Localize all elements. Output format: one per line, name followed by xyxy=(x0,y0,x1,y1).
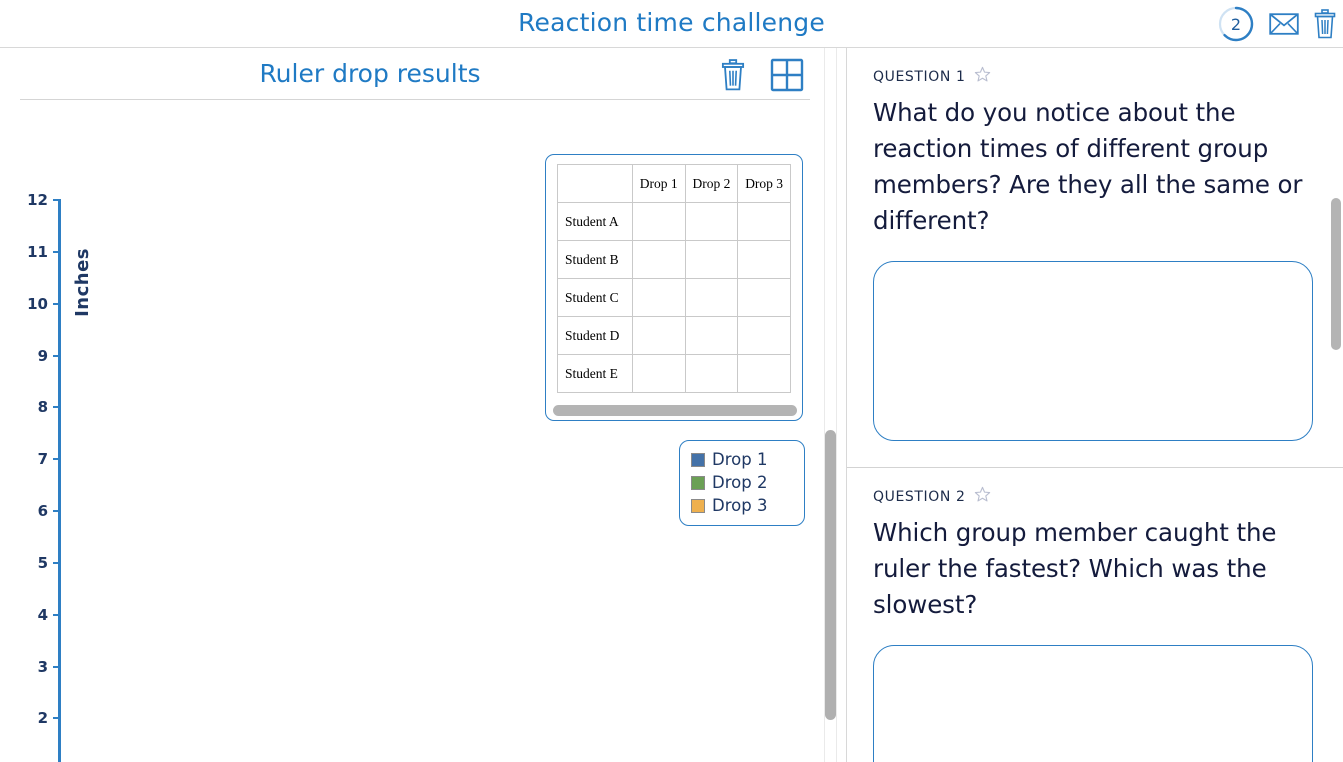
table-corner-cell xyxy=(558,165,633,203)
table-row-header: Student D xyxy=(558,317,633,355)
chart-header-actions xyxy=(720,58,804,92)
table-row: Student E xyxy=(558,355,791,393)
y-axis-tick xyxy=(53,666,61,668)
chart-panel: Ruler drop results Inches 12345678910111 xyxy=(0,48,821,762)
y-axis-tick xyxy=(53,717,61,719)
table-row-header: Student C xyxy=(558,279,633,317)
legend-label: Drop 1 xyxy=(712,452,767,468)
progress-count: 2 xyxy=(1231,15,1241,34)
y-axis-title: Inches xyxy=(72,248,93,317)
page-title: Reaction time challenge xyxy=(0,0,1343,46)
envelope-icon[interactable] xyxy=(1269,12,1299,36)
grid-layout-icon[interactable] xyxy=(770,58,804,92)
legend-item[interactable]: Drop 2 xyxy=(691,471,804,494)
y-axis-tick xyxy=(53,562,61,564)
y-axis-tick xyxy=(53,458,61,460)
table-row-header: Student B xyxy=(558,241,633,279)
y-axis-tick-label: 11 xyxy=(14,245,48,259)
legend-label: Drop 3 xyxy=(712,498,767,514)
table-column-header: Drop 3 xyxy=(738,165,791,203)
table-cell[interactable] xyxy=(738,203,791,241)
table-row-header: Student A xyxy=(558,203,633,241)
table-cell[interactable] xyxy=(632,317,685,355)
question-block: QUESTION 1What do you notice about the r… xyxy=(847,48,1343,468)
data-table-head: Drop 1Drop 2Drop 3 xyxy=(558,165,791,203)
y-axis-tick-label: 6 xyxy=(14,504,48,518)
chart-legend: Drop 1Drop 2Drop 3 xyxy=(679,440,805,526)
data-table-header-row: Drop 1Drop 2Drop 3 xyxy=(558,165,791,203)
question-text: What do you notice about the reaction ti… xyxy=(873,95,1314,239)
question-label: QUESTION 2 xyxy=(873,489,966,505)
questions-list: QUESTION 1What do you notice about the r… xyxy=(847,48,1343,762)
left-panel-scrollbar-thumb[interactable] xyxy=(825,430,836,720)
table-horizontal-scrollbar[interactable] xyxy=(553,405,797,416)
table-row: Student D xyxy=(558,317,791,355)
data-table-card[interactable]: Drop 1Drop 2Drop 3 Student AStudent BStu… xyxy=(545,154,803,421)
app-header: Reaction time challenge 2 xyxy=(0,0,1343,48)
progress-ring-icon[interactable]: 2 xyxy=(1217,5,1255,43)
y-axis-tick-label: 3 xyxy=(14,660,48,674)
star-outline-icon[interactable] xyxy=(974,486,991,507)
questions-panel-scrollbar-thumb[interactable] xyxy=(1331,198,1341,350)
table-cell[interactable] xyxy=(632,355,685,393)
y-axis-tick-label: 2 xyxy=(14,711,48,725)
data-table[interactable]: Drop 1Drop 2Drop 3 Student AStudent BStu… xyxy=(557,164,791,393)
table-cell[interactable] xyxy=(738,355,791,393)
star-outline-icon[interactable] xyxy=(974,66,991,87)
y-axis-tick-label: 12 xyxy=(14,193,48,207)
table-cell[interactable] xyxy=(685,203,738,241)
table-cell[interactable] xyxy=(632,279,685,317)
y-axis-tick xyxy=(53,510,61,512)
data-table-wrapper: Drop 1Drop 2Drop 3 Student AStudent BStu… xyxy=(557,164,791,393)
header-actions: 2 xyxy=(1217,4,1337,44)
table-cell[interactable] xyxy=(738,317,791,355)
chart-header: Ruler drop results xyxy=(20,52,810,100)
table-cell[interactable] xyxy=(632,241,685,279)
y-axis-tick xyxy=(53,199,61,201)
chart-trash-icon[interactable] xyxy=(720,59,746,91)
table-column-header: Drop 1 xyxy=(632,165,685,203)
table-cell[interactable] xyxy=(738,241,791,279)
table-row: Student A xyxy=(558,203,791,241)
y-axis-tick-label: 7 xyxy=(14,452,48,466)
table-cell[interactable] xyxy=(738,279,791,317)
chart-title: Ruler drop results xyxy=(20,52,720,96)
y-axis-tick xyxy=(53,406,61,408)
legend-item[interactable]: Drop 3 xyxy=(691,494,804,517)
question-label: QUESTION 1 xyxy=(873,69,966,85)
y-axis-tick xyxy=(53,355,61,357)
table-column-header: Drop 2 xyxy=(685,165,738,203)
legend-items: Drop 1Drop 2Drop 3 xyxy=(691,448,804,517)
app-root: Reaction time challenge 2 xyxy=(0,0,1343,762)
question-block: QUESTION 2Which group member caught the … xyxy=(847,468,1343,762)
answer-input[interactable] xyxy=(873,261,1313,441)
y-axis-tick-label: 5 xyxy=(14,556,48,570)
y-axis-tick-label: 9 xyxy=(14,349,48,363)
question-header: QUESTION 2 xyxy=(873,486,1314,507)
y-axis-line xyxy=(58,200,61,762)
trash-icon[interactable] xyxy=(1313,9,1337,39)
table-row-header: Student E xyxy=(558,355,633,393)
answer-input[interactable] xyxy=(873,645,1313,762)
legend-color-swatch xyxy=(691,499,705,513)
legend-label: Drop 2 xyxy=(712,475,767,491)
table-cell[interactable] xyxy=(685,317,738,355)
y-axis-tick xyxy=(53,614,61,616)
table-cell[interactable] xyxy=(685,355,738,393)
y-axis-tick-label: 4 xyxy=(14,608,48,622)
y-axis-tick-label: 8 xyxy=(14,400,48,414)
y-axis-tick xyxy=(53,303,61,305)
table-row: Student C xyxy=(558,279,791,317)
table-cell[interactable] xyxy=(685,279,738,317)
questions-panel: QUESTION 1What do you notice about the r… xyxy=(846,48,1343,762)
legend-color-swatch xyxy=(691,453,705,467)
question-text: Which group member caught the ruler the … xyxy=(873,515,1314,623)
table-cell[interactable] xyxy=(632,203,685,241)
y-axis-tick xyxy=(53,251,61,253)
y-axis-tick-label: 10 xyxy=(14,297,48,311)
legend-color-swatch xyxy=(691,476,705,490)
data-table-body: Student AStudent BStudent CStudent DStud… xyxy=(558,203,791,393)
table-row: Student B xyxy=(558,241,791,279)
legend-item[interactable]: Drop 1 xyxy=(691,448,804,471)
question-header: QUESTION 1 xyxy=(873,66,1314,87)
table-cell[interactable] xyxy=(685,241,738,279)
